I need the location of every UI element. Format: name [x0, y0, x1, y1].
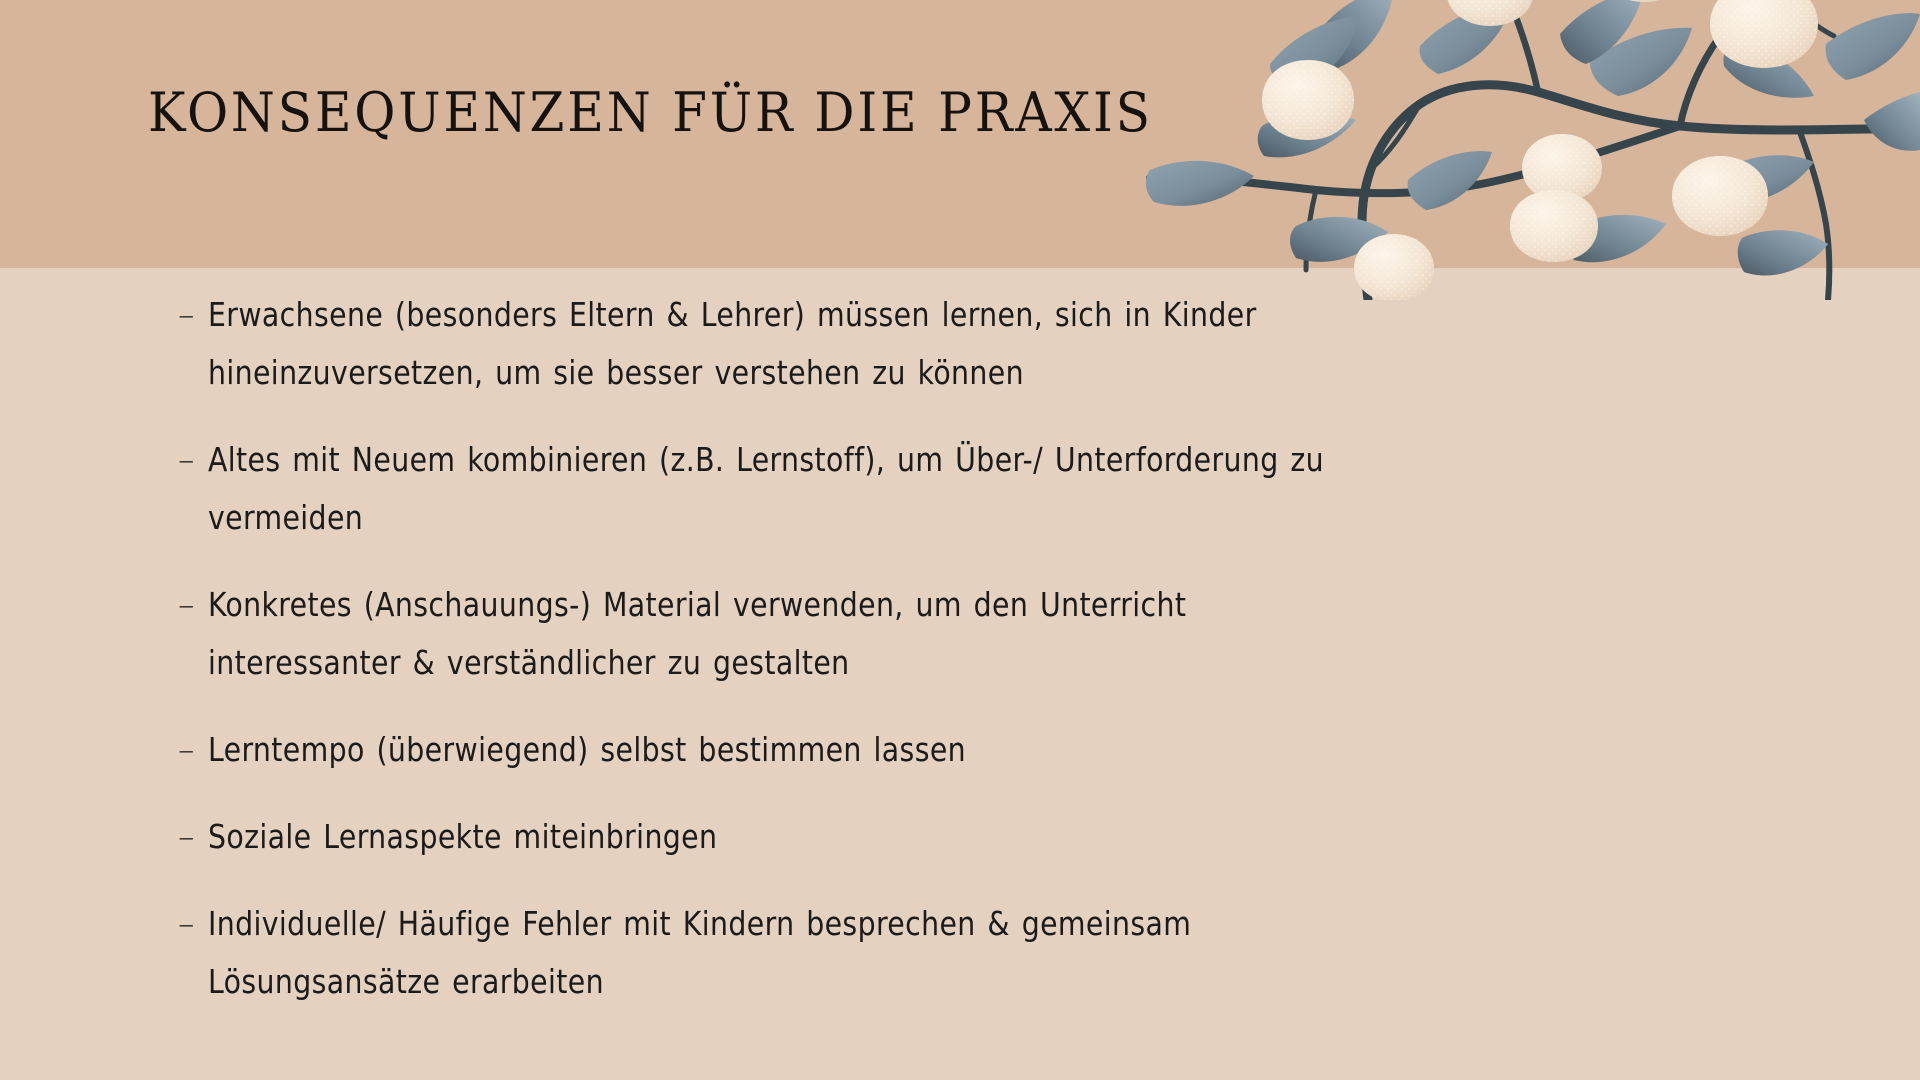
bullet-text-2: Altes mit Neuem kombinieren (z.B. Lernst… [208, 431, 1459, 547]
bullet-text-6: Individuelle/ Häufige Fehler mit Kindern… [208, 895, 1330, 1011]
slide-title: KONSEQUENZEN FÜR DIE PRAXIS [148, 86, 1153, 140]
bullet-dash-icon: – [178, 286, 208, 344]
presentation-slide: KONSEQUENZEN FÜR DIE PRAXIS – Erwachsene… [0, 0, 1920, 1080]
bullet-text-5: Soziale Lernaspekte miteinbringen [208, 808, 1459, 866]
bullet-dash-icon: – [178, 808, 208, 866]
bullet-dash-icon: – [178, 895, 208, 953]
bullet-text-4: Lerntempo (überwiegend) selbst bestimmen… [208, 721, 1459, 779]
bullet-text-3: Konkretes (Anschauungs-) Material verwen… [208, 576, 1330, 692]
bullet-item-6: – Individuelle/ Häufige Fehler mit Kinde… [178, 895, 1778, 1011]
bullet-item-1: – Erwachsene (besonders Eltern & Lehrer)… [178, 286, 1778, 402]
bullet-list: – Erwachsene (besonders Eltern & Lehrer)… [178, 286, 1778, 1040]
bullet-dash-icon: – [178, 721, 208, 779]
bullet-item-5: – Soziale Lernaspekte miteinbringen [178, 808, 1778, 866]
bullet-item-2: – Altes mit Neuem kombinieren (z.B. Lern… [178, 431, 1778, 547]
bullet-item-4: – Lerntempo (überwiegend) selbst bestimm… [178, 721, 1778, 779]
bullet-item-3: – Konkretes (Anschauungs-) Material verw… [178, 576, 1778, 692]
bullet-dash-icon: – [178, 431, 208, 489]
bullet-text-1: Erwachsene (besonders Eltern & Lehrer) m… [208, 286, 1459, 402]
bullet-dash-icon: – [178, 576, 208, 634]
